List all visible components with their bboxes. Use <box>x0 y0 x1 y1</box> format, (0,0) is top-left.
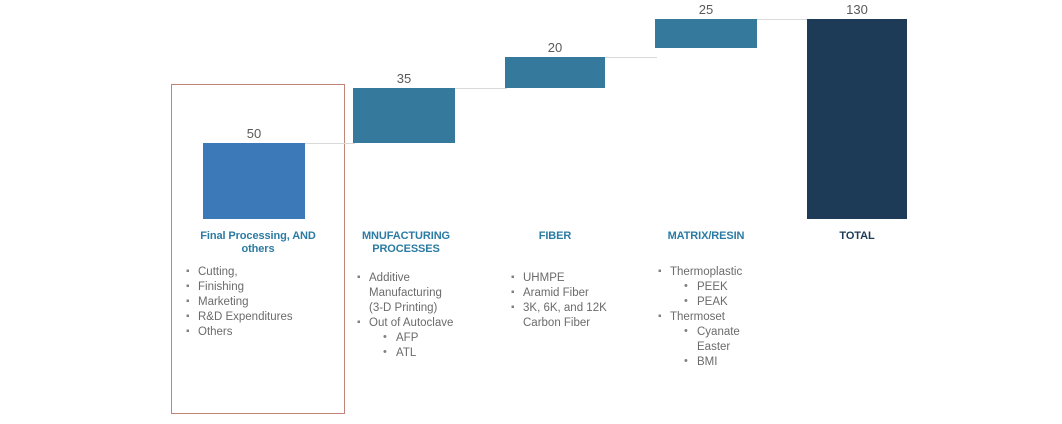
list-item: Marketing <box>186 295 336 310</box>
bullet-sublist: Cyanate Easter BMI <box>684 325 768 370</box>
column-title-manufacturing-processes: MNUFACTURING PROCESSES <box>356 230 456 256</box>
bar-value-fiber: 20 <box>505 40 605 56</box>
column-title-final-processing: Final Processing, AND others <box>184 230 332 256</box>
column-title-fiber: FIBER <box>505 230 605 243</box>
list-item: Finishing <box>186 280 336 295</box>
list-item: Thermoset <box>658 310 768 325</box>
list-item: 3K, 6K, and 12K Carbon Fiber <box>511 301 616 331</box>
column-title-total: TOTAL <box>807 230 907 243</box>
bullet-list-final-processing: Cutting, Finishing Marketing R&D Expendi… <box>186 265 336 340</box>
bullet-list-manufacturing-processes: Additive Manufacturing (3-D Printing) Ou… <box>357 271 459 361</box>
connector-line-1 <box>305 143 355 144</box>
list-item: PEEK <box>684 280 768 295</box>
list-item: Aramid Fiber <box>511 286 616 301</box>
list-item: AFP <box>383 331 459 346</box>
connector-line-3 <box>605 57 657 58</box>
bullet-list-root: Cutting, Finishing Marketing R&D Expendi… <box>186 265 336 340</box>
bar-manufacturing-processes <box>353 88 455 143</box>
bullet-sublist: AFP ATL <box>383 331 459 361</box>
bar-final-processing <box>203 143 305 219</box>
bar-total <box>807 19 907 219</box>
connector-line-2 <box>455 88 507 89</box>
list-item: Cyanate Easter <box>684 325 768 355</box>
list-item: R&D Expenditures <box>186 310 336 325</box>
list-item: UHMPE <box>511 271 616 286</box>
list-item: BMI <box>684 355 768 370</box>
bar-value-final-processing: 50 <box>203 126 305 142</box>
list-item: Additive Manufacturing (3-D Printing) <box>357 271 459 316</box>
list-item: Thermoplastic <box>658 265 768 280</box>
bullet-list-root: Additive Manufacturing (3-D Printing) Ou… <box>357 271 459 361</box>
bullet-list-root: UHMPE Aramid Fiber 3K, 6K, and 12K Carbo… <box>511 271 616 331</box>
bar-value-manufacturing-processes: 35 <box>353 71 455 87</box>
list-item: Cutting, <box>186 265 336 280</box>
bullet-sublist: PEEK PEAK <box>684 280 768 310</box>
list-item: PEAK <box>684 295 768 310</box>
list-item: ATL <box>383 346 459 361</box>
list-item: Out of Autoclave <box>357 316 459 331</box>
waterfall-chart: 50 35 20 25 130 Final Processing, AND ot… <box>0 0 1062 424</box>
bar-value-total: 130 <box>807 2 907 18</box>
list-item: Others <box>186 325 336 340</box>
bullet-list-fiber: UHMPE Aramid Fiber 3K, 6K, and 12K Carbo… <box>511 271 616 331</box>
bar-matrix-resin <box>655 19 757 48</box>
bar-fiber <box>505 57 605 88</box>
connector-line-4 <box>757 19 809 20</box>
bar-value-matrix-resin: 25 <box>655 2 757 18</box>
bullet-list-root: Thermoplastic PEEK PEAK Thermoset Cyanat… <box>658 265 768 370</box>
bullet-list-matrix-resin: Thermoplastic PEEK PEAK Thermoset Cyanat… <box>658 265 768 370</box>
column-title-matrix-resin: MATRIX/RESIN <box>655 230 757 243</box>
